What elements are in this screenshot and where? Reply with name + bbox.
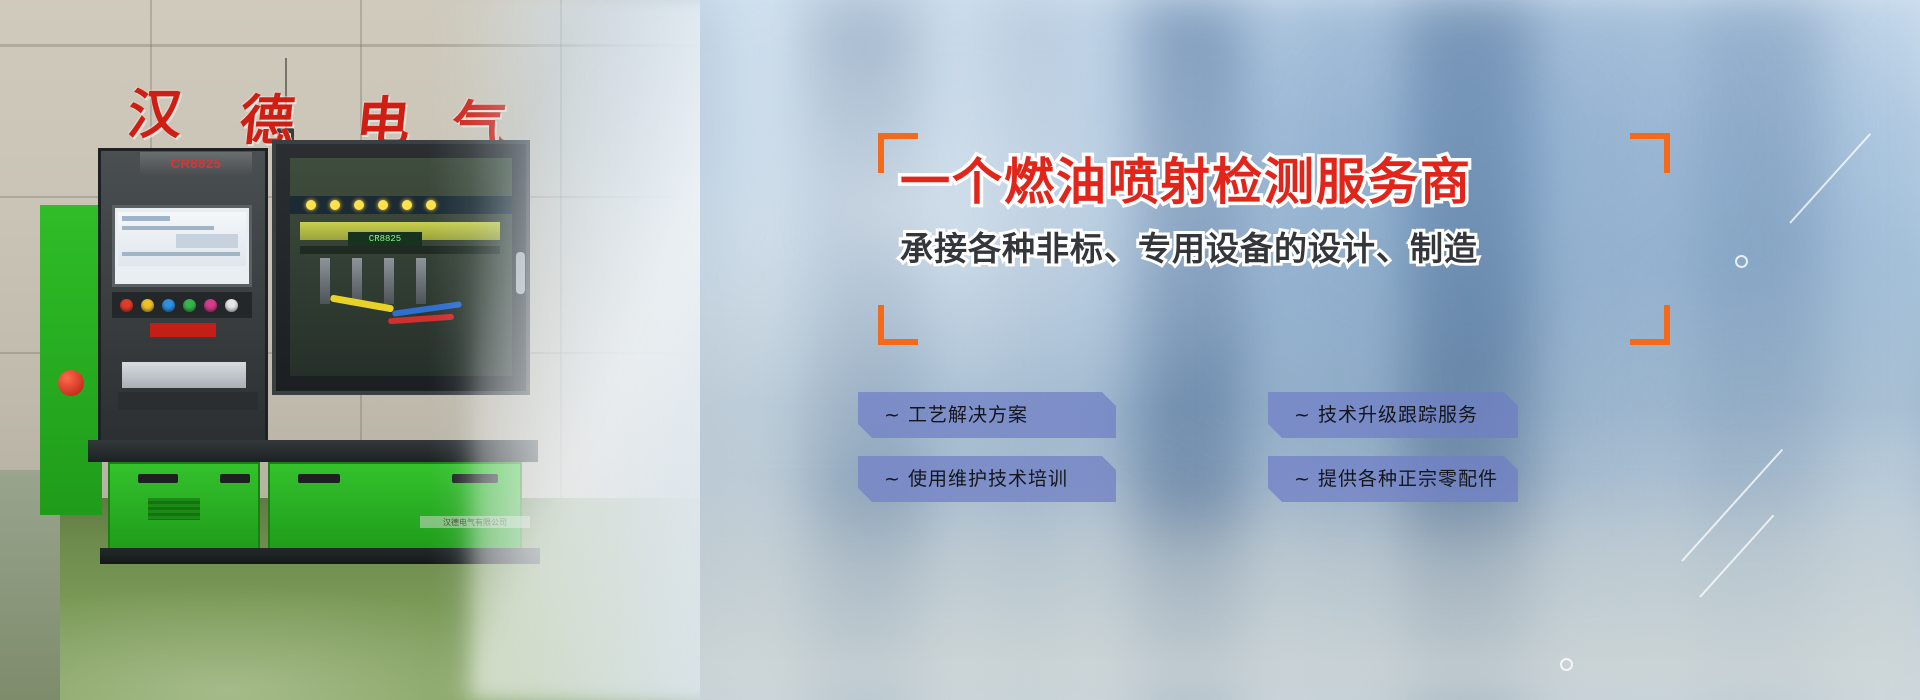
- corner-bracket-top-right-icon: [1630, 133, 1670, 173]
- service-tag-genuine-parts[interactable]: ~ 提供各种正宗零配件: [1268, 456, 1518, 502]
- decor-diagonal-line: [1789, 133, 1871, 224]
- banner-headline: 一个燃油喷射检测服务商: [900, 152, 1610, 214]
- decor-circle: [1560, 658, 1573, 671]
- corner-bracket-bottom-right-icon: [1630, 305, 1670, 345]
- service-tag-tech-upgrade[interactable]: ~ 技术升级跟踪服务: [1268, 392, 1518, 438]
- banner-subtitle: 承接各种非标、专用设备的设计、制造: [900, 228, 1610, 272]
- corner-bracket-bottom-left-icon: [878, 305, 918, 345]
- banner-content: 一个燃油喷射检测服务商 承接各种非标、专用设备的设计、制造 ~ 工艺解决方案 ~…: [0, 0, 1920, 700]
- decor-circle: [1735, 255, 1748, 268]
- decor-diagonal-line: [1681, 449, 1783, 562]
- hero-banner: 汉 德 电 气 CR8825: [0, 0, 1920, 700]
- service-tag-process-solution[interactable]: ~ 工艺解决方案: [858, 392, 1116, 438]
- service-tag-maintenance-training[interactable]: ~ 使用维护技术培训: [858, 456, 1116, 502]
- service-tag-list: ~ 工艺解决方案 ~ 技术升级跟踪服务 ~ 使用维护技术培训 ~ 提供各种正宗零…: [858, 392, 1658, 522]
